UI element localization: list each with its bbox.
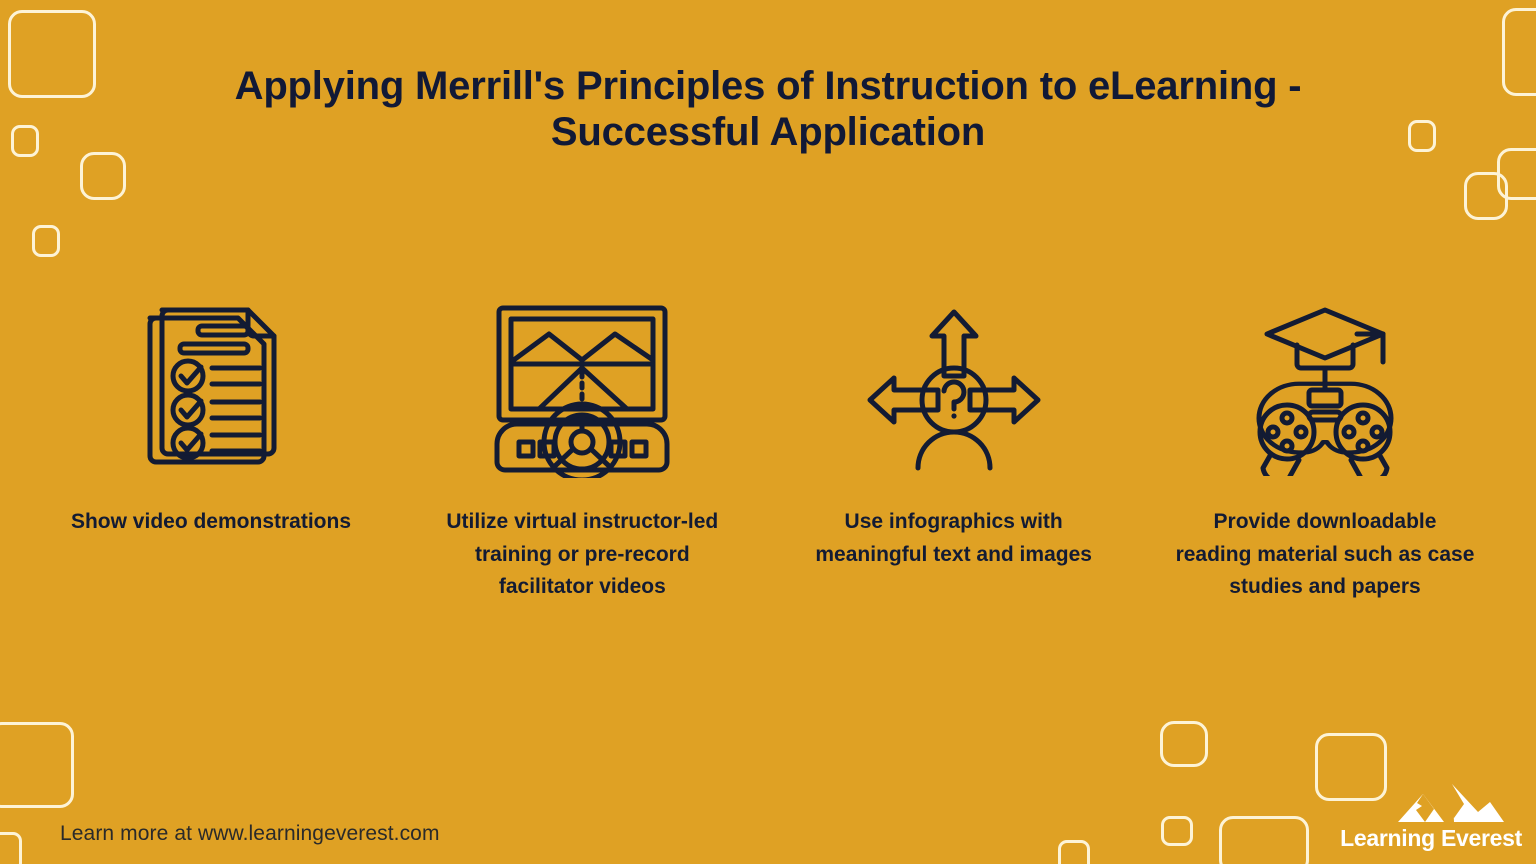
checklist-document-icon — [136, 300, 286, 480]
card-show-video-demonstrations: Show video demonstrations — [30, 300, 392, 539]
card-provide-downloadable-reading-material: Provide downloadable reading material su… — [1144, 300, 1506, 604]
decorative-square — [11, 125, 39, 157]
person-question-arrows-icon — [866, 300, 1042, 480]
decorative-square — [1408, 120, 1436, 152]
footer-note: Learn more at www.learningeverest.com — [60, 822, 440, 846]
decorative-square — [0, 832, 22, 864]
brand-logo: Learning Everest — [1330, 782, 1522, 854]
decorative-square — [1502, 8, 1536, 96]
cards-row: Show video demonstrations — [30, 300, 1506, 604]
decorative-square — [8, 10, 96, 98]
page-title: Applying Merrill's Principles of Instruc… — [140, 63, 1396, 155]
graduation-cap-gamepad-icon — [1237, 300, 1413, 480]
card-caption: Provide downloadable reading material su… — [1175, 506, 1475, 604]
decorative-square — [0, 722, 74, 808]
card-caption: Show video demonstrations — [71, 506, 351, 539]
decorative-square — [1219, 816, 1309, 864]
decorative-square — [1058, 840, 1090, 864]
decorative-square — [1160, 721, 1208, 767]
decorative-square — [80, 152, 126, 200]
driving-simulator-icon — [487, 300, 677, 480]
card-use-infographics: Use infographics with meaningful text an… — [773, 300, 1135, 571]
decorative-square — [1161, 816, 1193, 846]
decorative-square — [1464, 172, 1508, 220]
brand-logo-text: Learning Everest — [1330, 825, 1522, 852]
decorative-square — [1497, 148, 1536, 200]
card-caption: Use infographics with meaningful text an… — [804, 506, 1104, 571]
card-caption: Utilize virtual instructor-led training … — [432, 506, 732, 604]
slide-canvas: Applying Merrill's Principles of Instruc… — [0, 0, 1536, 864]
decorative-square — [32, 225, 60, 257]
card-virtual-instructor-led-training: Utilize virtual instructor-led training … — [401, 300, 763, 604]
mountain-peaks-icon — [1392, 782, 1504, 831]
